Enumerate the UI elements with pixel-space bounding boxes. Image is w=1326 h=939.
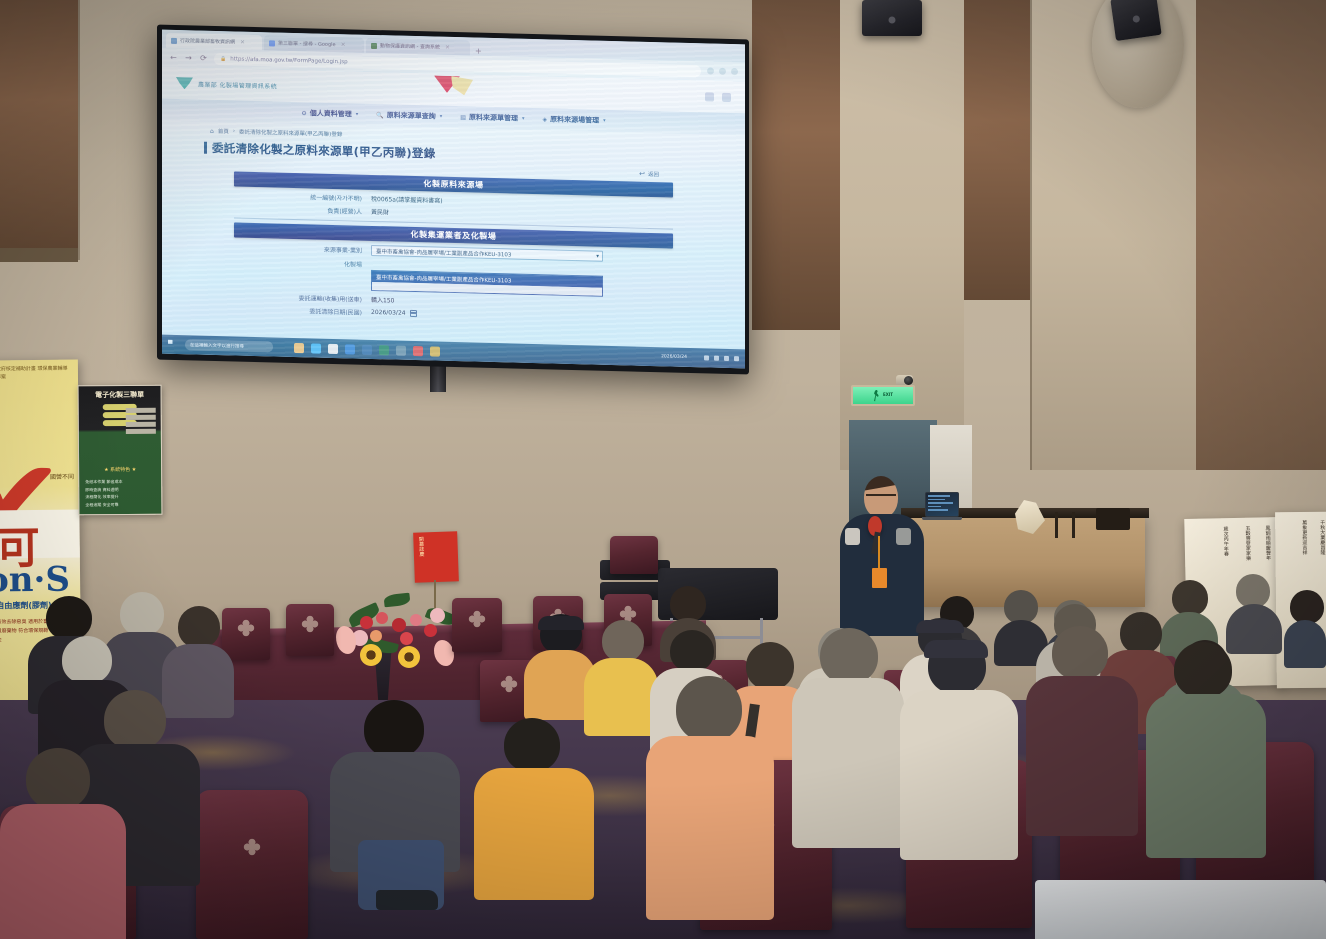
chrome-icon[interactable]	[328, 343, 338, 353]
calendar-icon[interactable]	[410, 310, 417, 317]
title-accent-bar	[204, 142, 207, 154]
chevron-down-icon: ▾	[596, 253, 599, 259]
presentation-display: 行政院農業部畜牧資訊網 × 第三聯單 - 搜尋 - Google × 動物保護資…	[157, 25, 749, 375]
audience-member	[1284, 590, 1326, 664]
audience-member	[1146, 642, 1266, 854]
field-label: 化製場	[234, 256, 362, 268]
poster-subtitle: ★ 系統特色 ★	[79, 466, 161, 474]
screen-content: 行政院農業部畜牧資訊網 × 第三聯單 - 搜尋 - Google × 動物保護資…	[162, 30, 745, 369]
section-title: 化製集運業者及化製場	[411, 229, 497, 242]
settings-icon[interactable]	[396, 345, 406, 355]
battery-icon[interactable]	[724, 356, 729, 361]
close-icon[interactable]: ×	[341, 41, 346, 48]
audience-chair	[196, 790, 308, 939]
cap-icon	[538, 616, 584, 630]
chevron-down-icon: ▾	[603, 118, 606, 124]
banner-brand-latin: on·S	[0, 560, 70, 601]
poster-bar	[126, 429, 156, 434]
lock-icon: 🔒	[220, 56, 226, 62]
logout-icon[interactable]	[722, 92, 731, 101]
calligraphy-column: 千秋大業慶昌隆	[1320, 520, 1325, 555]
congratulation-card: 開幕誌慶	[413, 531, 459, 583]
nav-label: 個人資料管理	[310, 108, 352, 119]
stage-chair	[610, 536, 658, 574]
card-text: 開幕誌慶	[413, 532, 427, 560]
new-year-decoration	[434, 76, 473, 96]
date-value: 2026/03/24	[371, 309, 406, 317]
nav-label: 原料來源場管理	[550, 114, 599, 125]
url-text: https://afa.moa.gov.tw/FormPage/Login.js…	[230, 56, 347, 65]
new-tab-button[interactable]: +	[472, 46, 485, 55]
calligraphy-column: 風調雨順慶豐年	[1265, 525, 1271, 560]
network-icon[interactable]	[704, 355, 709, 360]
audience-member	[330, 700, 460, 905]
select-value: 臺中市畜禽協會-肉品屠宰場/工業副產品合作KEU-3103	[376, 247, 511, 258]
calligraphy-column: 萬象更新迎吉祥	[1302, 520, 1307, 555]
nav-label: 原料來源單管理	[469, 112, 518, 123]
audience-member	[900, 638, 1018, 856]
banner-right-text: 國營不同	[50, 472, 74, 481]
forward-arrow-icon[interactable]: →	[184, 53, 193, 62]
clipboard-icon: ▤	[460, 114, 466, 121]
counter-box	[1096, 508, 1130, 530]
audience-member	[646, 676, 774, 916]
stage-chair	[286, 604, 334, 656]
field-label: 負責(經營)人	[234, 203, 362, 215]
nav-item-site-manage[interactable]: ◈ 原料來源場管理 ▾	[542, 114, 605, 126]
back-button[interactable]: ↩ 返回	[639, 170, 659, 179]
ceiling-speaker	[862, 0, 922, 36]
running-man-icon	[873, 390, 880, 402]
chevron-down-icon: ▾	[440, 114, 443, 120]
poster-item: 全程追蹤 安全可靠	[85, 501, 155, 509]
tab-title: 行政院農業部畜牧資訊網	[180, 37, 235, 45]
close-icon[interactable]: ×	[240, 39, 245, 46]
audience-member	[1026, 626, 1138, 832]
tab-title: 第三聯單 - 搜尋 - Google	[278, 40, 336, 48]
nav-item-source-manage[interactable]: ▤ 原料來源單管理 ▾	[460, 112, 524, 124]
wood-wall-panel	[752, 0, 840, 330]
tab-title: 動物保護資訊網 - 查詢系統	[380, 42, 440, 51]
section-title: 化製原料來源場	[423, 178, 483, 191]
edge-icon[interactable]	[311, 343, 321, 353]
file-explorer-icon[interactable]	[294, 342, 304, 352]
user-icon[interactable]	[705, 92, 714, 101]
audience-member	[792, 628, 904, 844]
wall-seam	[78, 0, 80, 260]
profile-icon[interactable]	[719, 68, 726, 75]
windows-start-icon[interactable]	[168, 339, 178, 349]
lanyard	[878, 536, 880, 570]
system-tray	[704, 355, 739, 361]
field-label: 委託清除日期(民國)	[234, 304, 362, 316]
site-favicon	[171, 37, 177, 43]
audience-member	[0, 748, 126, 939]
wood-wall-panel	[964, 0, 1030, 300]
breadcrumb-item-home[interactable]: 首頁	[218, 127, 229, 135]
candle-stand	[1072, 512, 1075, 538]
glasses-icon	[866, 494, 896, 500]
poster-bar	[126, 415, 156, 420]
excel-icon[interactable]	[379, 345, 389, 355]
close-icon[interactable]: ×	[445, 44, 450, 51]
word-icon[interactable]	[362, 344, 372, 354]
field-value: 稅0065a(請掌握資料書寫)	[371, 194, 443, 205]
taskbar-clock[interactable]: 2026/03/24	[661, 354, 687, 360]
taskbar-apps	[294, 342, 440, 356]
date-field[interactable]: 2026/03/24	[371, 309, 417, 317]
google-favicon	[269, 40, 275, 46]
cap-icon	[924, 640, 988, 658]
emergency-exit-sign: EXIT	[851, 385, 915, 406]
form-area: 化製原料來源場 統一編號(자가不明) 稅0065a(請掌握資料書寫) 負責(經營…	[162, 166, 745, 327]
audience-member	[1226, 574, 1282, 650]
nav-label: 原料來源單查詢	[387, 110, 436, 121]
field-value: 黃民財	[371, 207, 389, 216]
browser-tab[interactable]: 行政院農業部畜牧資訊網 ×	[166, 33, 262, 50]
folder-icon[interactable]	[430, 346, 440, 356]
brand-label: 農業部 化製場管理資訊系統	[198, 79, 277, 90]
calligraphy-column: 歲次丙午年春	[1223, 526, 1229, 556]
ceiling-speaker	[1110, 0, 1161, 41]
id-badge	[872, 568, 887, 588]
shoe	[376, 890, 438, 910]
chevron-down-icon: ▾	[356, 112, 359, 118]
field-value: 轎入150	[371, 295, 394, 305]
shirt-emblem	[896, 528, 911, 545]
candle-stand	[1055, 512, 1058, 538]
back-label: 返回	[648, 170, 659, 178]
banner-top-text: 政府核定補助計畫 環保農業輔導專案	[0, 360, 78, 382]
taskbar-search-input[interactable]: 在這裡輸入文字以進行搜尋	[185, 339, 273, 352]
poster-bar	[126, 408, 156, 413]
wood-wall-panel	[1196, 0, 1326, 470]
chevron-down-icon: ▾	[522, 116, 525, 122]
web-page: 農業部 化製場管理資訊系統 ⚙ 個人資料管理 ▾	[162, 67, 745, 369]
exit-sign-label: EXIT	[883, 393, 893, 397]
audience-member	[474, 718, 594, 918]
back-arrow-icon[interactable]: ←	[169, 53, 178, 62]
site-favicon	[371, 42, 377, 48]
poster-bar	[126, 422, 156, 427]
site-brand[interactable]: 農業部 化製場管理資訊系統	[176, 77, 277, 92]
notification-icon[interactable]	[734, 356, 739, 361]
browser-tab[interactable]: 動物保護資訊網 - 查詢系統 ×	[366, 38, 470, 56]
stage-chair	[452, 598, 502, 652]
shirt-emblem	[845, 528, 860, 545]
mail-icon[interactable]	[345, 344, 355, 354]
volume-icon[interactable]	[714, 356, 719, 361]
home-icon[interactable]: ⌂	[210, 127, 214, 134]
poster-items: 免紙本作業 節省成本 即時查詢 資料透明 流程簡化 效率提升 全程追蹤 安全可靠	[85, 478, 155, 509]
tv-stand	[430, 366, 446, 392]
cap-icon	[916, 620, 964, 633]
reload-icon[interactable]: ⟳	[199, 54, 208, 63]
calligraphy-column: 五穀豐登家家樂	[1245, 526, 1251, 561]
leaf-logo-icon	[176, 77, 193, 89]
draped-table	[1035, 880, 1326, 939]
bookmark-star-icon[interactable]	[707, 67, 714, 74]
nav-item-personal-data[interactable]: ⚙ 個人資料管理 ▾	[301, 108, 358, 119]
more-menu-icon[interactable]	[731, 68, 738, 75]
poster-title: 電子化製三聯單	[79, 386, 161, 401]
toolbar-actions	[707, 67, 738, 75]
factory-icon: ◈	[542, 116, 547, 123]
back-arrow-icon: ↩	[639, 170, 645, 178]
header-actions	[705, 92, 731, 102]
poster-bars	[126, 408, 156, 434]
wall-seam	[1030, 0, 1032, 470]
search-icon: 🔍	[376, 112, 383, 119]
pdf-icon[interactable]	[413, 345, 423, 355]
presenter	[828, 476, 938, 636]
user-gear-icon: ⚙	[301, 110, 306, 117]
breadcrumb-separator: ›	[233, 128, 235, 134]
conference-hall-photo: EXIT 行政院農業部畜牧資訊網 × 第三聯單 - 搜尋 - Google ×	[0, 0, 1326, 939]
wood-wall-panel	[0, 0, 78, 250]
green-info-poster: 電子化製三聯單 ★ 系統特色 ★ 免紙本作業 節省成本 即時查詢 資料透明 流程…	[78, 385, 163, 516]
wall-trim	[0, 248, 78, 262]
gold-ribbon-icon	[451, 76, 473, 96]
flower-arrangement: 開幕誌慶	[330, 568, 470, 678]
nav-item-source-query[interactable]: 🔍 原料來源單查詢 ▾	[376, 110, 442, 122]
browser-tab[interactable]: 第三聯單 - 搜尋 - Google ×	[264, 35, 364, 53]
